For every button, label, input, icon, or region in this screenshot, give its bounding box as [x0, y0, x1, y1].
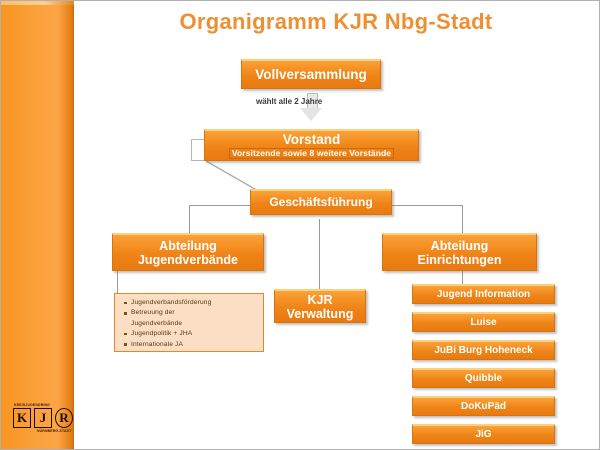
kjr-logo: KREISJUGENDRING K J R NÜRNBERG-STADT — [13, 397, 69, 441]
logo-letter-r: R — [55, 408, 73, 428]
node-abteilung-jugendverbaende[interactable]: Abteilung Jugendverbände — [112, 233, 264, 271]
node-einrichtung-label: JuBi Burg Hoheneck — [434, 345, 532, 356]
node-kjr-verwaltung[interactable]: KJR Verwaltung — [274, 289, 366, 323]
node-einrichtung-jig[interactable]: JiG — [412, 424, 555, 444]
connector-down-to-jv — [189, 205, 190, 233]
connector-arrow-head — [300, 108, 322, 121]
jugendverbaende-task-list: Jugendverbandsförderung Betreuung der Ju… — [114, 293, 264, 352]
connector-gf-right — [391, 205, 463, 206]
node-einrichtung-jubi-burg-hoheneck[interactable]: JuBi Burg Hoheneck — [412, 340, 555, 360]
list-item: Jugendverbände — [131, 319, 259, 329]
organigramm-slide: KREISJUGENDRING K J R NÜRNBERG-STADT Org… — [0, 0, 600, 450]
node-einrichtung-luise[interactable]: Luise — [412, 312, 555, 332]
node-geschaeftsfuehrung-label: Geschäftsführung — [269, 196, 372, 209]
node-abteilung-jugendverbaende-line1: Abteilung — [159, 239, 217, 253]
list-item: Jugendpolitik + JHA — [131, 329, 259, 339]
list-item: Jugendverbandsförderung — [131, 298, 259, 308]
connector-gf-left — [189, 205, 251, 206]
left-accent-bar-cap — [1, 1, 74, 5]
connector-jv-to-list — [117, 271, 118, 293]
node-einrichtung-jugend-information[interactable]: Jugend Information — [412, 284, 555, 304]
node-abteilung-jugendverbaende-line2: Jugendverbände — [138, 253, 238, 267]
node-kjr-verwaltung-line1: KJR — [307, 293, 332, 307]
node-einrichtung-dokupaed[interactable]: DoKuPäd — [412, 396, 555, 416]
logo-letters: K J R — [13, 408, 73, 428]
node-vorstand-sublabel: Vorsitzende sowie 8 weitere Vorstände — [229, 148, 394, 160]
node-vollversammlung-label: Vollversammlung — [255, 67, 367, 82]
node-einrichtung-label: Luise — [470, 317, 496, 328]
logo-bottom-text: NÜRNBERG-STADT — [37, 429, 72, 433]
logo-top-text: KREISJUGENDRING — [14, 403, 50, 407]
node-abteilung-einrichtungen[interactable]: Abteilung Einrichtungen — [382, 233, 537, 271]
node-vorstand[interactable]: Vorstand Vorsitzende sowie 8 weitere Vor… — [204, 129, 419, 161]
page-title: Organigramm KJR Nbg-Stadt — [101, 9, 571, 35]
vorstand-left-bracket — [191, 139, 205, 161]
node-geschaeftsfuehrung[interactable]: Geschäftsführung — [250, 189, 392, 215]
connector-down-to-ein — [462, 205, 463, 233]
list-item: Internationale JA — [131, 340, 259, 350]
node-einrichtung-label: Quibble — [465, 373, 502, 384]
connector-label-waehlt: wählt alle 2 Jahre — [256, 97, 322, 106]
connector-ein-to-list — [462, 271, 463, 285]
connector-down-to-verwaltung — [319, 219, 320, 289]
left-accent-bar — [1, 1, 74, 450]
logo-letter-j: J — [34, 408, 52, 428]
node-vorstand-label: Vorstand — [283, 132, 341, 147]
task-list: Jugendverbandsförderung Betreuung der Ju… — [121, 298, 259, 350]
node-einrichtung-label: JiG — [475, 429, 491, 440]
node-einrichtung-quibble[interactable]: Quibble — [412, 368, 555, 388]
node-einrichtung-label: Jugend Information — [437, 289, 530, 300]
node-abteilung-einrichtungen-line2: Einrichtungen — [417, 253, 501, 267]
node-kjr-verwaltung-line2: Verwaltung — [287, 307, 354, 321]
list-item: Betreuung der — [131, 308, 259, 318]
node-einrichtung-label: DoKuPäd — [461, 401, 506, 412]
node-abteilung-einrichtungen-line1: Abteilung — [431, 239, 489, 253]
logo-letter-k: K — [13, 408, 31, 428]
node-vollversammlung[interactable]: Vollversammlung — [241, 59, 381, 89]
